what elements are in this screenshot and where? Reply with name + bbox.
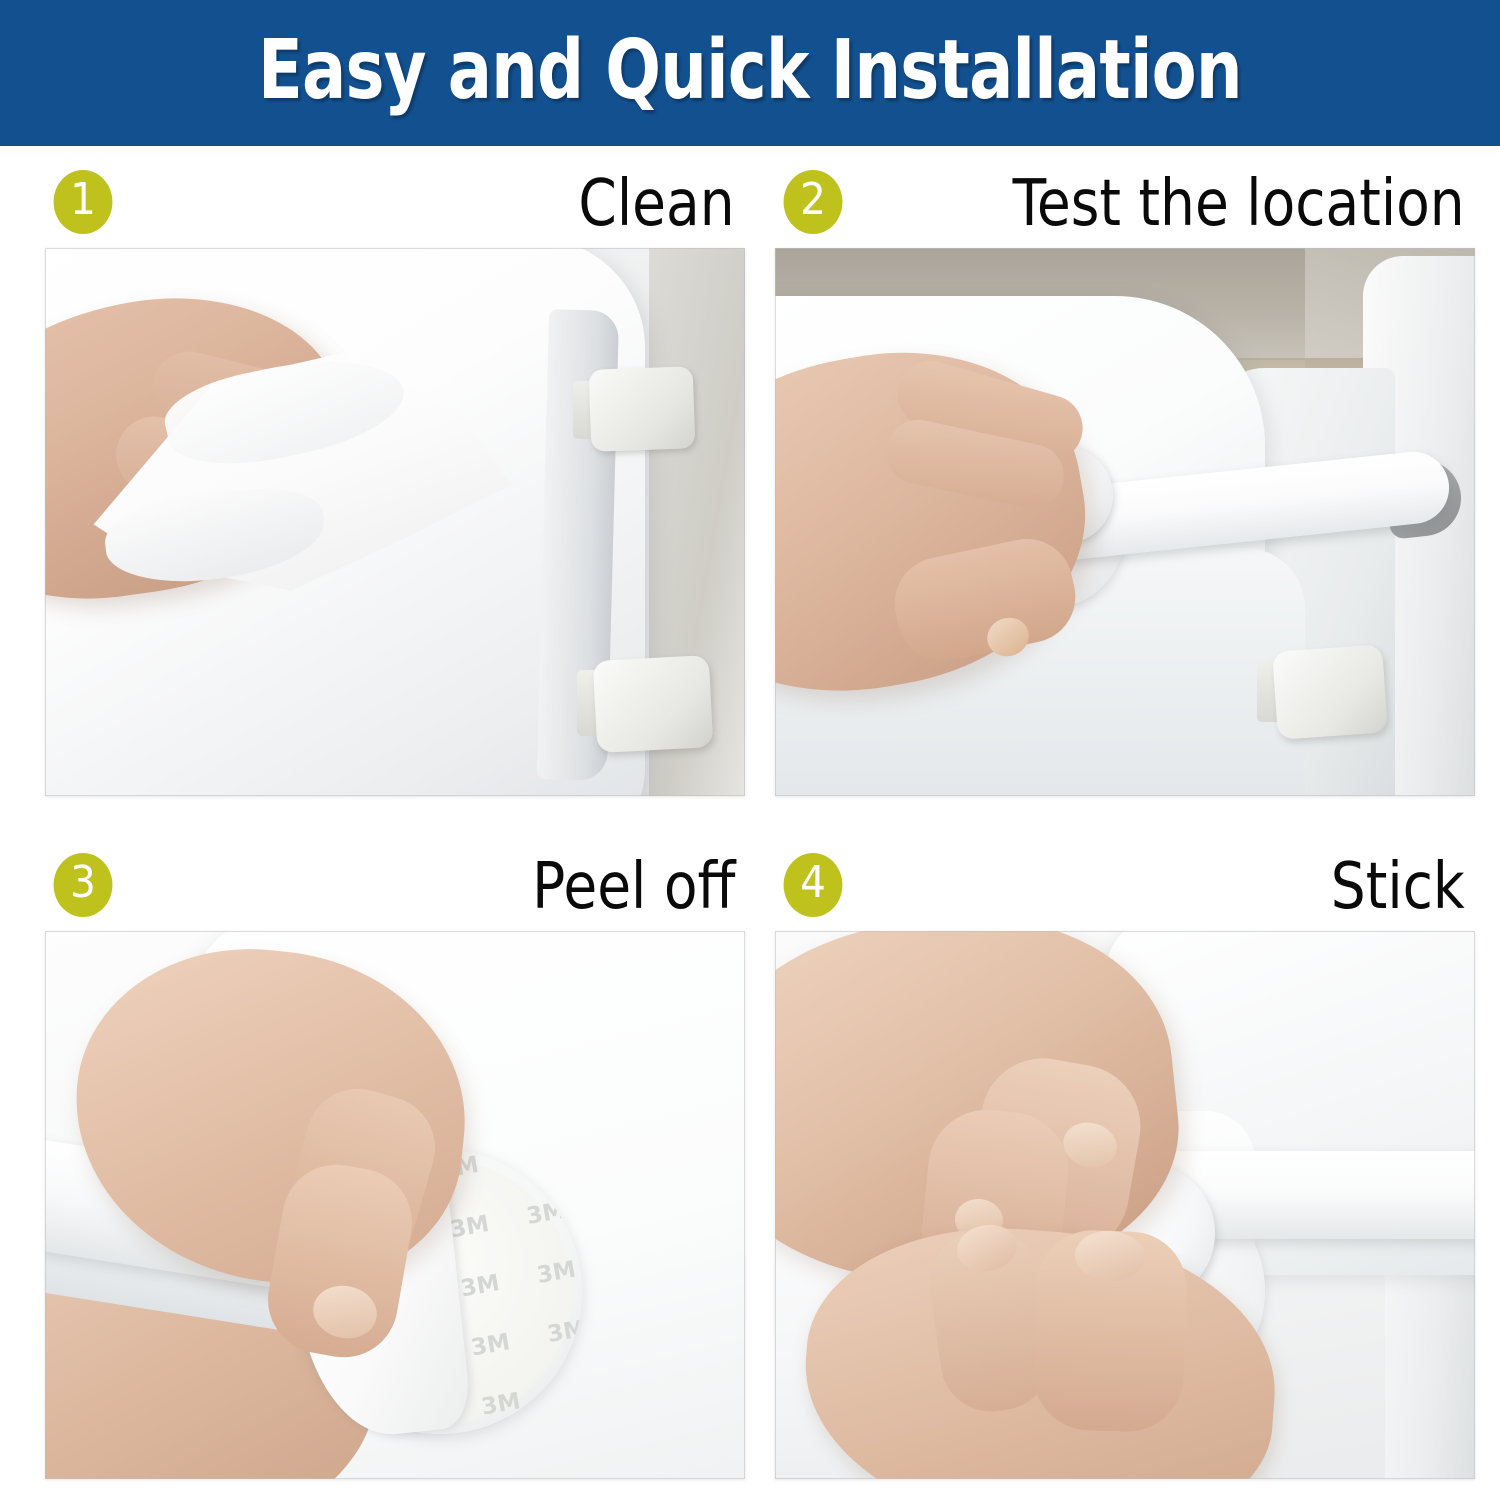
step-photo-4 bbox=[775, 931, 1475, 1479]
step-photo-3: 3M3M3M3M3M3M3M3M3M3M3M3M3M3M3M3M3M3M3M3M bbox=[45, 931, 745, 1479]
page-title: Easy and Quick Installation bbox=[258, 30, 1242, 112]
photo1-hinge-upper bbox=[589, 366, 696, 452]
step-panel-3: 3 Peel off 3M3M3M3M3M3M3M3M3M3M3M3M3M3M3… bbox=[45, 843, 745, 1479]
step-panel-2: 2 Test the location bbox=[775, 160, 1475, 796]
adhesive-brand-mark: 3M bbox=[524, 1296, 582, 1369]
header-banner: Easy and Quick Installation bbox=[0, 0, 1500, 146]
step-photo-1 bbox=[45, 248, 745, 796]
step-number-badge-1: 1 bbox=[54, 170, 113, 234]
step-header-3: 3 Peel off bbox=[45, 843, 745, 931]
step-header-4: 4 Stick bbox=[775, 843, 1475, 931]
step-label-4: Stick bbox=[1331, 843, 1465, 931]
step-number-badge-2: 2 bbox=[784, 170, 843, 234]
step-header-1: 1 Clean bbox=[45, 160, 745, 248]
step-number-badge-4: 4 bbox=[784, 853, 843, 917]
step-label-3: Peel off bbox=[532, 843, 735, 931]
photo2-hinge bbox=[1272, 644, 1388, 739]
photo1-hinge-lower bbox=[593, 655, 714, 753]
step-panel-4: 4 Stick bbox=[775, 843, 1475, 1479]
step-header-2: 2 Test the location bbox=[775, 160, 1475, 248]
adhesive-brand-mark: 3M bbox=[513, 1237, 582, 1310]
step-label-2: Test the location bbox=[1013, 160, 1465, 248]
step-photo-2 bbox=[775, 248, 1475, 796]
step-panel-1: 1 Clean bbox=[45, 160, 745, 796]
step-label-1: Clean bbox=[579, 160, 735, 248]
step-number-badge-3: 3 bbox=[54, 853, 113, 917]
